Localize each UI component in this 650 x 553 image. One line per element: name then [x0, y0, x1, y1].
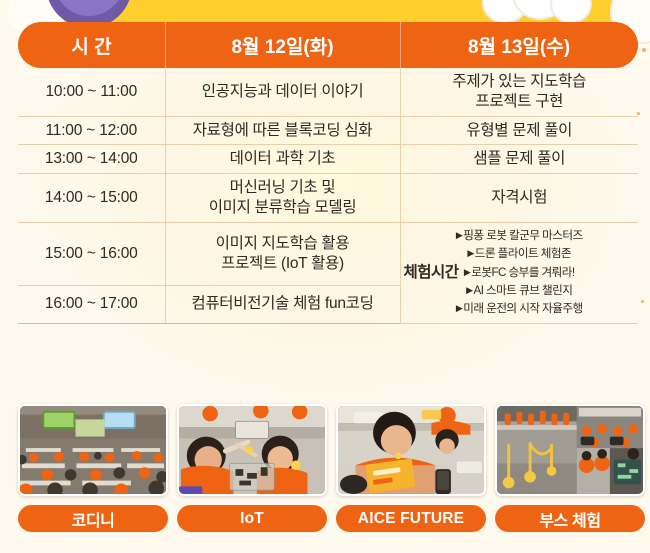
list-item-label: 핑퐁 로봇 칼군무 마스터즈: [463, 229, 582, 242]
row-day1-session: 머신러닝 기초 및이미지 분류학습 모델링: [165, 174, 400, 223]
lecture-hall-image: [20, 406, 166, 494]
list-item-label: 미래 운전의 시작 자율주행: [463, 302, 582, 315]
row-day2-session: 자격시험: [400, 174, 638, 223]
booth-experience-photo: [495, 404, 645, 496]
header-day1: 8월 12일(화): [165, 22, 400, 68]
row-day1-session: 데이터 과학 기초: [165, 145, 400, 174]
schedule-table: 시 간 8월 12일(화) 8월 13일(수) 10:00 ~ 11:00 인공…: [18, 22, 638, 324]
triangle-bullet-icon: ▶: [467, 248, 473, 258]
poster-canvas: 시 간 8월 12일(화) 8월 13일(수) 10:00 ~ 11:00 인공…: [0, 0, 650, 553]
row-day1-session: 컴퓨터비전기술 체험 fun코딩: [165, 286, 400, 323]
table-row: 14:00 ~ 15:00 머신러닝 기초 및이미지 분류학습 모델링 자격시험: [18, 174, 638, 223]
row-time: 14:00 ~ 15:00: [18, 174, 165, 223]
aice-activity-photo: [336, 404, 486, 496]
list-item-label: 로봇FC 승부를 겨뤄라!: [471, 266, 574, 279]
triangle-bullet-icon: ▶: [466, 285, 472, 295]
table-row: 10:00 ~ 11:00 인공지능과 데이터 이야기 주제가 있는 지도학습프…: [18, 68, 638, 116]
row-day1-session: 자료형에 따른 블록코딩 심화: [165, 116, 400, 145]
schedule-table-body: 10:00 ~ 11:00 인공지능과 데이터 이야기 주제가 있는 지도학습프…: [18, 68, 638, 323]
row-time: 13:00 ~ 14:00: [18, 145, 165, 174]
header-time: 시 간: [18, 22, 165, 68]
triangle-bullet-icon: ▶: [456, 303, 462, 313]
row-day2-session: 샘플 문제 풀이: [400, 145, 638, 174]
schedule-table-head: 시 간 8월 12일(화) 8월 13일(수): [18, 22, 638, 68]
table-header-row: 시 간 8월 12일(화) 8월 13일(수): [18, 22, 638, 68]
lecture-hall-photo: [18, 404, 168, 496]
photo-caption-iot: IoT: [177, 505, 327, 532]
speck-dot-icon: [642, 48, 646, 52]
list-item: ▶드론 플라이트 체험존: [404, 245, 636, 263]
list-item: ▶핑퐁 로봇 칼군무 마스터즈: [404, 227, 636, 245]
photo-card: IoT: [177, 404, 327, 532]
row-time: 11:00 ~ 12:00: [18, 116, 165, 145]
table-row: 13:00 ~ 14:00 데이터 과학 기초 샘플 문제 풀이: [18, 145, 638, 174]
photo-caption-aice-future: AICE FUTURE: [336, 505, 486, 532]
list-item: ▶미래 운전의 시작 자율주행: [404, 300, 636, 318]
photo-caption-booth: 부스 체험: [495, 505, 645, 532]
header-day2: 8월 13일(수): [400, 22, 638, 68]
row-day2-session: 주제가 있는 지도학습프로젝트 구현: [400, 68, 638, 116]
speck-dot-icon: [641, 300, 644, 303]
table-row: 11:00 ~ 12:00 자료형에 따른 블록코딩 심화 유형별 문제 풀이: [18, 116, 638, 145]
triangle-bullet-icon: ▶: [456, 230, 462, 240]
photo-card: 부스 체험: [495, 404, 645, 532]
row-day1-session: 인공지능과 데이터 이야기: [165, 68, 400, 116]
list-item: ▶AI 스마트 큐브 챌린지: [404, 282, 636, 300]
table-row: 15:00 ~ 16:00 이미지 지도학습 활용프로젝트 (IoT 활용) 체…: [18, 222, 638, 285]
photo-caption-kodini: 코디니: [18, 505, 168, 532]
photo-strip: 코디니: [18, 404, 636, 532]
iot-kit-image: [179, 406, 325, 494]
photo-card: 코디니: [18, 404, 168, 532]
list-item-label: 드론 플라이트 체험존: [475, 247, 571, 260]
row-time: 15:00 ~ 16:00: [18, 222, 165, 285]
iot-kit-photo: [177, 404, 327, 496]
aice-activity-image: [338, 406, 484, 494]
list-item-label: AI 스마트 큐브 챌린지: [474, 284, 573, 297]
row-day1-session: 이미지 지도학습 활용프로젝트 (IoT 활용): [165, 222, 400, 285]
triangle-bullet-icon: ▶: [464, 267, 470, 277]
row-time: 10:00 ~ 11:00: [18, 68, 165, 116]
photo-card: AICE FUTURE: [336, 404, 486, 532]
booth-experience-image: [497, 406, 643, 494]
schedule-table-wrapper: 시 간 8월 12일(화) 8월 13일(수) 10:00 ~ 11:00 인공…: [18, 22, 638, 324]
row-day2-session: 유형별 문제 풀이: [400, 116, 638, 145]
row-time: 16:00 ~ 17:00: [18, 286, 165, 323]
